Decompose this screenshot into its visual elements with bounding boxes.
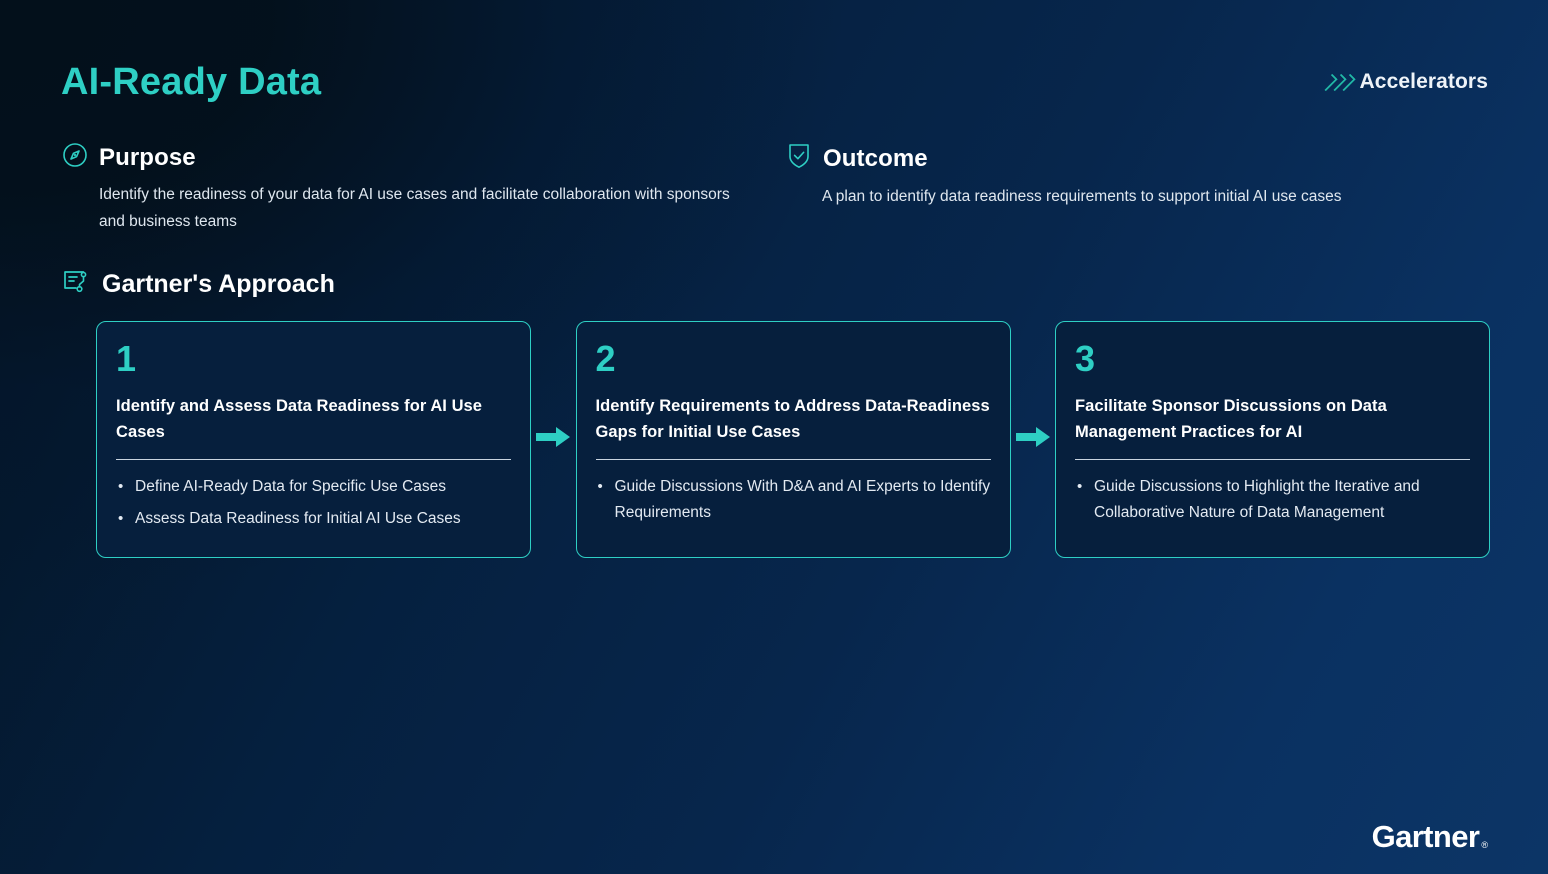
card-divider	[1075, 459, 1470, 460]
approach-card-2[interactable]: 2 Identify Requirements to Address Data-…	[576, 321, 1011, 558]
arrow-right-icon	[534, 422, 572, 457]
purpose-heading-row: Purpose	[62, 142, 742, 173]
approach-card-3[interactable]: 3 Facilitate Sponsor Discussions on Data…	[1055, 321, 1490, 558]
compass-icon	[62, 142, 88, 173]
card-divider	[596, 459, 991, 460]
list-item: Guide Discussions to Highlight the Itera…	[1075, 474, 1470, 526]
purpose-title: Purpose	[99, 144, 196, 172]
card-bullet-list: Guide Discussions With D&A and AI Expert…	[596, 474, 991, 532]
card-number: 2	[596, 341, 991, 377]
list-item: Define AI-Ready Data for Specific Use Ca…	[116, 474, 511, 500]
gartner-logo: Gartner ®	[1372, 821, 1488, 852]
registered-trademark-icon: ®	[1481, 840, 1488, 850]
triple-chevron-right-icon	[1325, 74, 1351, 91]
card-title: Facilitate Sponsor Discussions on Data M…	[1075, 393, 1470, 445]
arrow-connector-2	[1011, 321, 1056, 558]
purpose-section: Purpose Identify the readiness of your d…	[62, 142, 742, 235]
arrow-right-icon	[1014, 422, 1052, 457]
outcome-section: Outcome A plan to identify data readines…	[786, 142, 1486, 211]
approach-title: Gartner's Approach	[102, 270, 335, 299]
purpose-body: Identify the readiness of your data for …	[99, 182, 739, 235]
card-number: 3	[1075, 341, 1470, 377]
accelerators-brand: Accelerators	[1325, 70, 1488, 94]
outcome-body: A plan to identify data readiness requir…	[822, 184, 1482, 211]
slide-canvas: AI-Ready Data Accelerators Purpose Ident…	[0, 0, 1548, 874]
accelerators-label: Accelerators	[1360, 70, 1488, 94]
arrow-connector-1	[531, 321, 576, 558]
approach-heading-row: Gartner's Approach	[61, 268, 335, 301]
document-nodes-icon	[61, 268, 91, 301]
page-title: AI-Ready Data	[61, 62, 321, 104]
outcome-heading-row: Outcome	[786, 142, 1486, 175]
card-title: Identify Requirements to Address Data-Re…	[596, 393, 991, 445]
gartner-wordmark: Gartner	[1372, 821, 1480, 852]
card-bullet-list: Guide Discussions to Highlight the Itera…	[1075, 474, 1470, 532]
list-item: Assess Data Readiness for Initial AI Use…	[116, 506, 511, 532]
list-item: Guide Discussions With D&A and AI Expert…	[596, 474, 991, 526]
card-bullet-list: Define AI-Ready Data for Specific Use Ca…	[116, 474, 511, 538]
card-title: Identify and Assess Data Readiness for A…	[116, 393, 511, 445]
approach-card-1[interactable]: 1 Identify and Assess Data Readiness for…	[96, 321, 531, 558]
card-number: 1	[116, 341, 511, 377]
card-divider	[116, 459, 511, 460]
outcome-title: Outcome	[823, 145, 928, 173]
approach-cards-row: 1 Identify and Assess Data Readiness for…	[96, 321, 1490, 558]
shield-check-icon	[786, 142, 812, 175]
